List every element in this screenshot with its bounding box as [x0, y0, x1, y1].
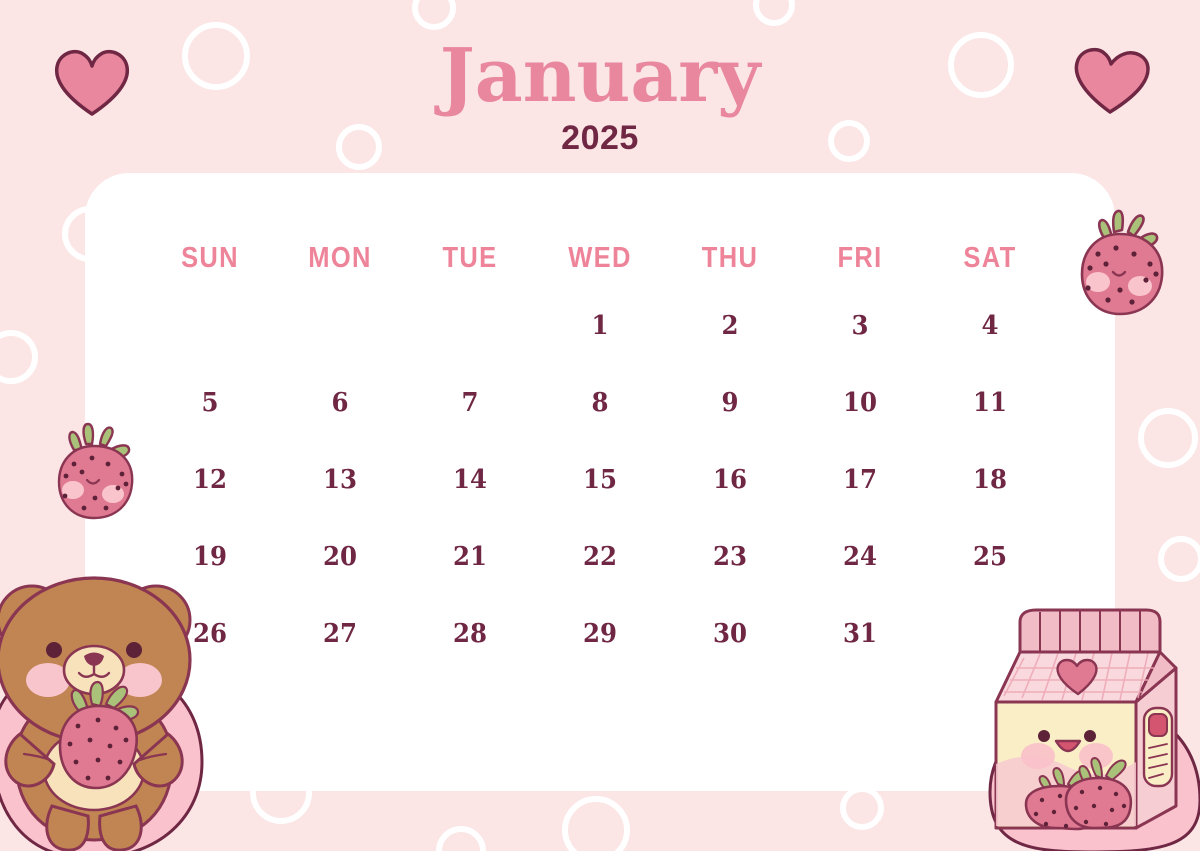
day-cell[interactable]: 11: [929, 365, 1051, 442]
day-cell[interactable]: [149, 288, 271, 365]
day-cell[interactable]: 5: [149, 365, 271, 442]
circle-outline-icon: [0, 330, 38, 384]
strawberry-milk-carton-icon: [938, 596, 1200, 851]
teddy-bear-icon: [0, 548, 250, 851]
weekday-sun: SUN: [153, 228, 267, 288]
calendar-page: January 2025 SUN MON TUE WED THU FRI SAT…: [0, 0, 1200, 851]
day-cell[interactable]: 17: [799, 442, 921, 519]
day-cell[interactable]: 12: [149, 442, 271, 519]
day-cell[interactable]: 10: [799, 365, 921, 442]
week-row: 1 2 3 4: [145, 288, 1055, 365]
day-cell[interactable]: 2: [669, 288, 791, 365]
day-cell[interactable]: 28: [409, 596, 531, 673]
circle-outline-icon: [1158, 536, 1200, 582]
day-cell[interactable]: 21: [409, 519, 531, 596]
day-cell[interactable]: 13: [279, 442, 401, 519]
strawberry-icon: [1068, 208, 1176, 325]
day-cell[interactable]: 27: [279, 596, 401, 673]
day-cell[interactable]: 30: [669, 596, 791, 673]
weekday-sat: SAT: [933, 228, 1047, 288]
day-cell[interactable]: [409, 288, 531, 365]
day-cell[interactable]: 23: [669, 519, 791, 596]
circle-outline-icon: [753, 0, 795, 26]
week-row: 12 13 14 15 16 17 18: [145, 442, 1055, 519]
day-cell[interactable]: 22: [539, 519, 661, 596]
day-cell[interactable]: 24: [799, 519, 921, 596]
day-cell[interactable]: 14: [409, 442, 531, 519]
week-row: 19 20 21 22 23 24 25: [145, 519, 1055, 596]
year-label: 2025: [0, 118, 1200, 158]
strawberry-icon: [46, 418, 148, 527]
day-cell[interactable]: 1: [539, 288, 661, 365]
circle-outline-icon: [436, 826, 486, 851]
day-cell[interactable]: [279, 288, 401, 365]
circle-outline-icon: [1138, 408, 1198, 468]
day-cell[interactable]: 25: [929, 519, 1051, 596]
week-row: 26 27 28 29 30 31: [145, 596, 1055, 673]
day-cell[interactable]: 16: [669, 442, 791, 519]
day-cell[interactable]: 6: [279, 365, 401, 442]
day-cell[interactable]: 20: [279, 519, 401, 596]
weekday-header-row: SUN MON TUE WED THU FRI SAT: [145, 228, 1055, 288]
circle-outline-icon: [840, 786, 884, 830]
calendar-grid: SUN MON TUE WED THU FRI SAT 1 2 3 4 5 6 …: [145, 228, 1055, 673]
day-cell[interactable]: 18: [929, 442, 1051, 519]
day-cell[interactable]: 8: [539, 365, 661, 442]
day-cell[interactable]: 31: [799, 596, 921, 673]
circle-outline-icon: [412, 0, 456, 30]
day-cell[interactable]: 3: [799, 288, 921, 365]
week-row: 5 6 7 8 9 10 11: [145, 365, 1055, 442]
day-cell[interactable]: 15: [539, 442, 661, 519]
weekday-thu: THU: [673, 228, 787, 288]
weekday-tue: TUE: [413, 228, 527, 288]
day-cell[interactable]: 7: [409, 365, 531, 442]
weekday-fri: FRI: [803, 228, 917, 288]
day-cell[interactable]: 29: [539, 596, 661, 673]
circle-outline-icon: [562, 796, 630, 851]
day-cell[interactable]: 9: [669, 365, 791, 442]
weekday-mon: MON: [283, 228, 397, 288]
weekday-wed: WED: [543, 228, 657, 288]
day-cell[interactable]: 4: [929, 288, 1051, 365]
page-title: January: [0, 36, 1200, 116]
